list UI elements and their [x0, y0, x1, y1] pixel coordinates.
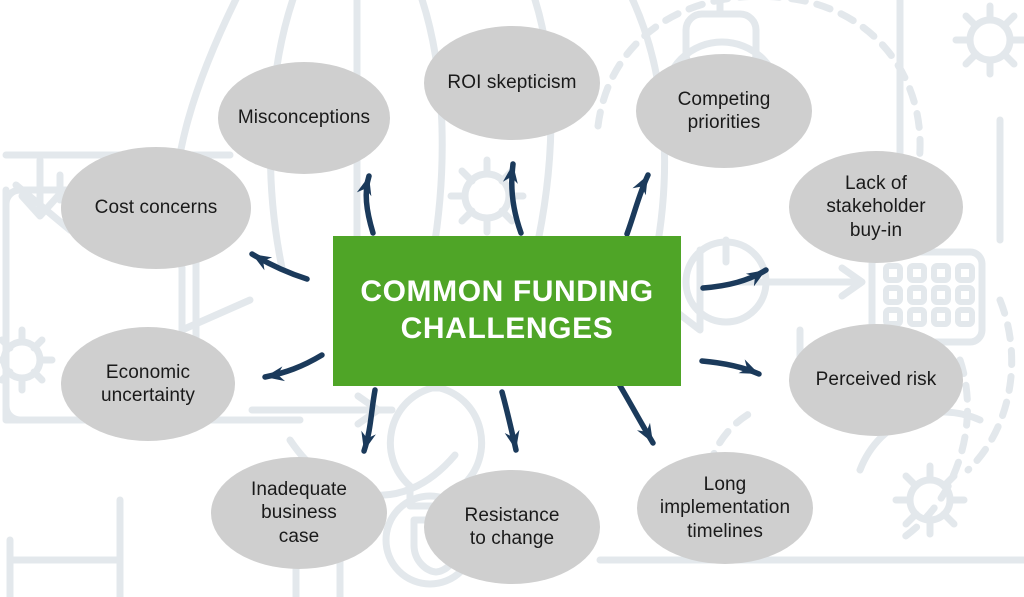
arrow-to-stakeholder: [703, 264, 770, 288]
challenge-node: ROI skepticism: [424, 26, 600, 140]
arrow-to-inadequate: [357, 390, 376, 453]
challenge-node: Inadequate business case: [211, 457, 387, 569]
challenge-node: Lack of stakeholder buy-in: [789, 151, 963, 263]
arrow-to-cost-concerns: [248, 248, 307, 279]
arrow-to-perceived-risk: [702, 359, 762, 380]
challenge-node: Misconceptions: [218, 62, 390, 174]
challenge-node: Long implementation timelines: [637, 452, 813, 564]
arrow-to-resistance: [502, 392, 523, 452]
challenge-node: Cost concerns: [61, 147, 251, 269]
diagram-canvas: COMMON FUNDING CHALLENGES Misconceptions…: [0, 0, 1024, 597]
challenge-node: Perceived risk: [789, 324, 963, 436]
center-hub-label: COMMON FUNDING CHALLENGES: [333, 236, 681, 386]
challenge-node: Resistance to change: [424, 470, 600, 584]
challenge-node: Competing priorities: [636, 54, 812, 168]
arrow-to-misconceptions: [357, 174, 376, 233]
arrow-to-economic: [264, 355, 322, 384]
arrow-to-roi-skepticism: [503, 163, 521, 233]
arrow-to-competing: [627, 171, 655, 234]
arrow-to-long-timelines: [619, 384, 659, 447]
challenge-node: Economic uncertainty: [61, 327, 235, 441]
